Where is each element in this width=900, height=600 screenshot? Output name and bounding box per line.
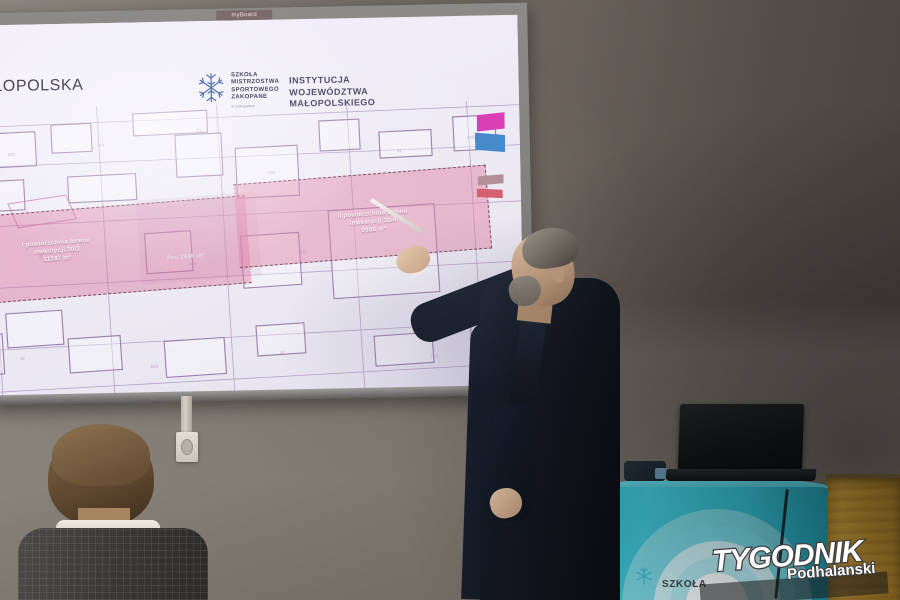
screenshot-scene: myBoard [0, 0, 900, 600]
watermark: TYGODNIK Podhalanski [711, 537, 863, 577]
scene-vignette [0, 0, 900, 600]
